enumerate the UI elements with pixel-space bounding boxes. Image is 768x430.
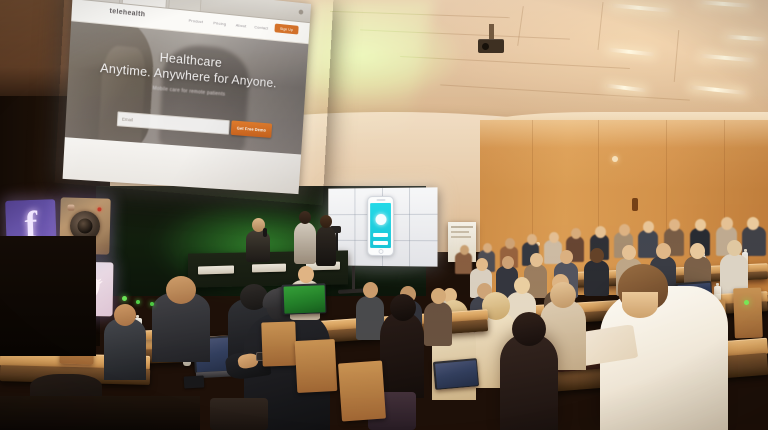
instagram-led-icon bbox=[97, 207, 101, 211]
audience-head bbox=[619, 224, 630, 236]
stage-led-light bbox=[744, 300, 749, 305]
app-logo-icon bbox=[375, 214, 386, 225]
stage-led-light bbox=[150, 302, 154, 306]
phone-mockup bbox=[367, 196, 394, 256]
audience-head bbox=[483, 243, 492, 253]
laptop-screen bbox=[283, 285, 325, 313]
stage-led-light bbox=[136, 300, 140, 304]
left-wall-lower bbox=[0, 236, 96, 356]
poster-line bbox=[451, 231, 469, 233]
floor bbox=[0, 396, 200, 430]
audience-member bbox=[424, 302, 452, 346]
handheld-microphone bbox=[263, 228, 267, 237]
get-free-demo-button[interactable]: Get Free Demo bbox=[231, 120, 272, 138]
presenter-standing bbox=[294, 222, 316, 264]
audience-member bbox=[380, 312, 424, 398]
smartphone bbox=[184, 375, 205, 388]
presenter-head bbox=[299, 211, 311, 224]
foreground-person-face bbox=[622, 292, 658, 318]
stage-placard bbox=[198, 266, 234, 275]
laptop-green-screen bbox=[281, 283, 326, 315]
app-button-bar bbox=[373, 233, 388, 237]
email-input-placeholder: Email bbox=[122, 117, 133, 123]
audience-head bbox=[643, 221, 654, 233]
audience-head bbox=[622, 245, 636, 260]
get-free-demo-label: Get Free Demo bbox=[231, 125, 272, 133]
audience-head bbox=[571, 228, 581, 239]
presenter-standing bbox=[316, 226, 336, 266]
projection-screen: telehealth Product Pricing About Contact… bbox=[63, 0, 312, 194]
foreground-person-dark-hair bbox=[500, 334, 558, 430]
presenter-head bbox=[320, 215, 332, 228]
audience-head bbox=[298, 266, 314, 283]
audience-head bbox=[549, 232, 559, 243]
audience-head bbox=[460, 245, 469, 255]
audience-head bbox=[721, 217, 733, 230]
chair-back bbox=[733, 288, 763, 339]
audience-member bbox=[544, 240, 562, 264]
audience-head bbox=[656, 243, 671, 259]
audience-head bbox=[727, 240, 742, 256]
audience-head bbox=[690, 243, 705, 259]
audience-head bbox=[527, 234, 537, 245]
audience-head bbox=[505, 238, 515, 249]
app-button-bar bbox=[373, 241, 388, 245]
audience-head bbox=[166, 276, 196, 304]
stage-led-light bbox=[122, 296, 127, 301]
phone-app-screen bbox=[370, 203, 391, 248]
browser-menu-icon[interactable] bbox=[299, 9, 304, 14]
audience-head bbox=[747, 217, 759, 230]
audience-head bbox=[514, 277, 530, 294]
audience-member bbox=[455, 252, 472, 274]
instagram-flash-icon bbox=[67, 205, 74, 211]
foreground-person-head bbox=[512, 312, 546, 346]
video-wall-panel-seam bbox=[409, 188, 410, 267]
audience-head bbox=[595, 226, 606, 238]
audience-head bbox=[431, 288, 446, 304]
audience-member bbox=[638, 230, 658, 258]
laptop bbox=[433, 358, 479, 390]
audience-head bbox=[114, 304, 136, 326]
stage-placard bbox=[252, 264, 286, 273]
audience-head bbox=[695, 219, 706, 231]
audience-head bbox=[590, 248, 604, 263]
phone-home-button bbox=[378, 249, 383, 254]
poster-line bbox=[451, 226, 473, 228]
wall-fixture bbox=[632, 198, 638, 211]
audience-head bbox=[363, 282, 378, 298]
audience-head bbox=[560, 250, 573, 264]
website-hero: Healthcare Anytime. Anywhere for Anyone.… bbox=[65, 21, 309, 154]
audience-head bbox=[550, 282, 576, 308]
chair-back bbox=[295, 339, 338, 393]
phone-earpiece bbox=[376, 199, 385, 201]
chair-back bbox=[261, 321, 297, 366]
instagram-lens-icon bbox=[77, 218, 92, 233]
audience-head bbox=[390, 294, 416, 321]
video-wall-panel-seam bbox=[354, 188, 355, 265]
projection-screen-assembly: telehealth Product Pricing About Contact… bbox=[63, 0, 323, 201]
poster-line bbox=[451, 236, 471, 238]
bag bbox=[210, 398, 268, 430]
audience-head bbox=[530, 253, 543, 267]
wall-spotlight bbox=[612, 156, 618, 162]
chair-back bbox=[338, 361, 386, 422]
audience-member bbox=[104, 318, 146, 380]
laptop-screen bbox=[434, 360, 477, 388]
audience-head bbox=[669, 219, 680, 231]
audience-head bbox=[502, 256, 514, 269]
conference-hall-scene: telehealth Product Pricing About Contact… bbox=[0, 0, 768, 430]
audience-member bbox=[584, 260, 609, 296]
nav-link-about[interactable]: About bbox=[236, 23, 247, 29]
audience-head bbox=[476, 258, 488, 271]
